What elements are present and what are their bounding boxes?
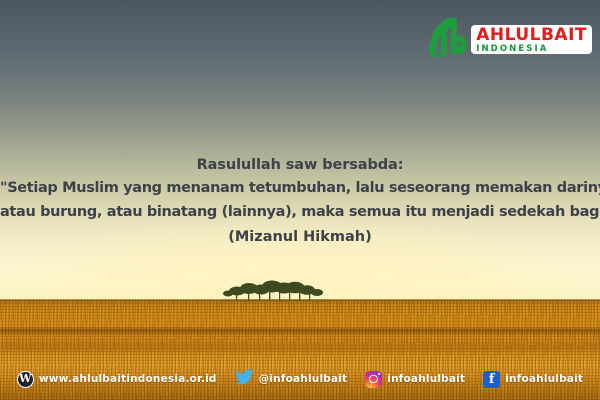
website-label: www.ahlulbaitindonesia.or.id — [39, 373, 217, 385]
field-shadow-band — [0, 326, 600, 336]
twitter-link[interactable]: @infoahlulbait — [235, 369, 348, 390]
instagram-icon — [365, 371, 382, 388]
quote-intro: Rasulullah saw bersabda: — [0, 155, 600, 176]
instagram-link[interactable]: infoahlulbait — [365, 371, 465, 388]
poster-image: AHLULBAIT INDONESIA Rasulullah saw bersa… — [0, 0, 600, 400]
brand-wordmark: AHLULBAIT INDONESIA — [471, 25, 592, 55]
facebook-handle: infoahlulbait — [505, 373, 583, 385]
quote-block: Rasulullah saw bersabda: "Setiap Muslim … — [0, 155, 600, 249]
brand-name: AHLULBAIT — [476, 27, 587, 44]
instagram-handle: infoahlulbait — [387, 373, 465, 385]
brand-subtitle: INDONESIA — [476, 45, 548, 54]
wordpress-icon: W — [17, 371, 34, 388]
ahlulbait-monogram-icon — [421, 14, 469, 65]
social-footer-bar: W www.ahlulbaitindonesia.or.id @infoahlu… — [0, 358, 600, 400]
quote-source: (Mizanul Hikmah) — [0, 225, 600, 249]
quote-line-1: "Setiap Muslim yang menanam tetumbuhan, … — [0, 176, 600, 200]
facebook-link[interactable]: f infoahlulbait — [483, 371, 583, 388]
quote-line-2: atau burung, atau binatang (lainnya), ma… — [0, 200, 600, 224]
brand-logo[interactable]: AHLULBAIT INDONESIA — [421, 14, 592, 65]
twitter-handle: @infoahlulbait — [259, 373, 348, 385]
website-link[interactable]: W www.ahlulbaitindonesia.or.id — [17, 371, 217, 388]
tree-line-icon — [222, 280, 330, 302]
twitter-icon — [235, 369, 254, 390]
facebook-icon: f — [483, 371, 500, 388]
